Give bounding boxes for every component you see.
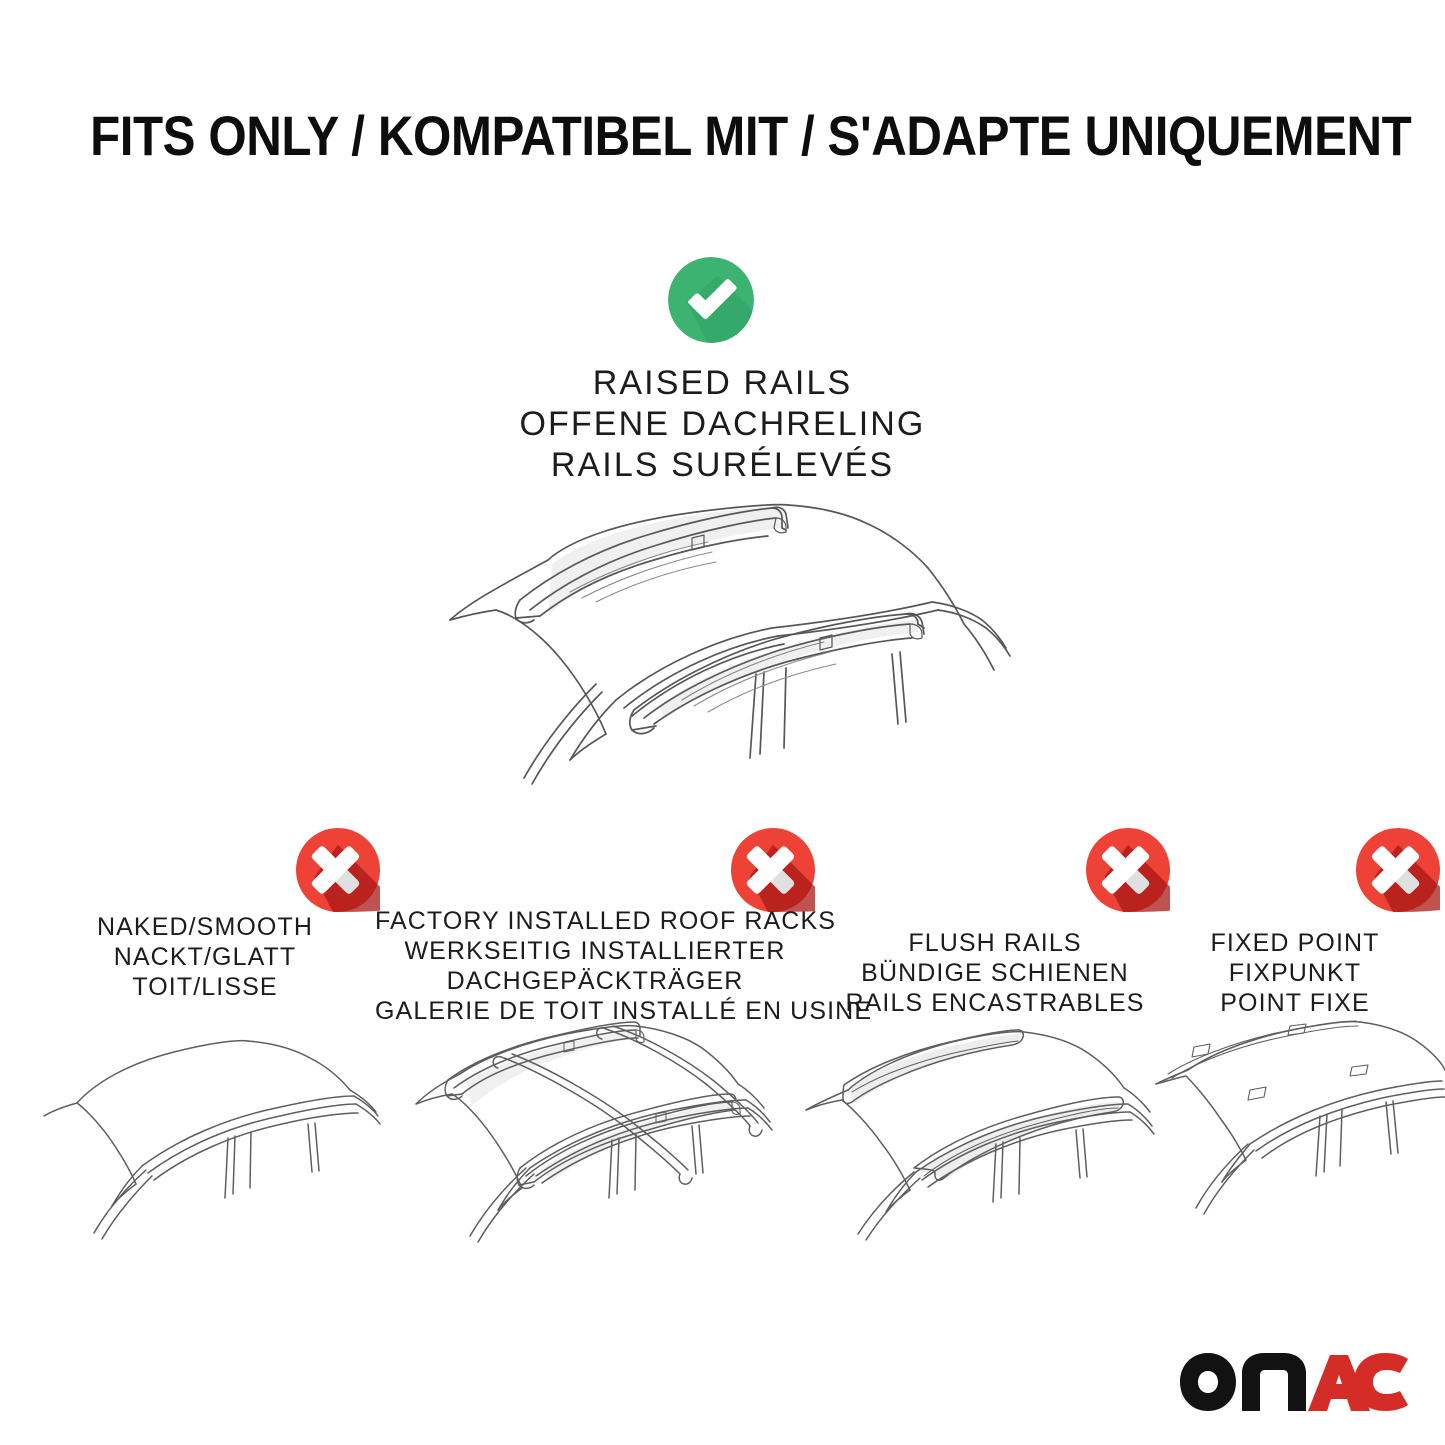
car-roof-factory-installed-roof-racks-illustration xyxy=(400,1008,792,1243)
car-roof-fixed-point-illustration xyxy=(1150,1008,1445,1243)
incompatible-caption: FLUSH RAILS BÜNDIGE SCHIENEN RAILS ENCAS… xyxy=(820,906,1170,1018)
incompatible-item-flush-rails: FLUSH RAILS BÜNDIGE SCHIENEN RAILS ENCAS… xyxy=(820,906,1170,1018)
check-circle-icon xyxy=(668,257,754,343)
compatible-caption-line: RAILS SURÉLEVÉS xyxy=(0,445,1445,486)
caption-line: NAKED/SMOOTH xyxy=(30,912,380,942)
caption-line: TOIT/LISSE xyxy=(30,972,380,1002)
caption-line: FIXED POINT xyxy=(1150,928,1440,958)
caption-line: FIXPUNKT xyxy=(1150,958,1440,988)
page-title-text: FITS ONLY / KOMPATIBEL MIT / S'ADAPTE UN… xyxy=(90,104,1411,168)
caption-line: FLUSH RAILS xyxy=(820,928,1170,958)
caption-line: FACTORY INSTALLED ROOF RACKS xyxy=(375,906,815,936)
compatible-caption-line: RAISED RAILS xyxy=(0,363,1445,404)
incompatible-caption: NAKED/SMOOTH NACKT/GLATT TOIT/LISSE xyxy=(30,906,380,1002)
caption-line: DACHGEPÄCKTRÄGER xyxy=(375,966,815,996)
x-circle-icon xyxy=(163,828,513,912)
compatible-caption-line: OFFENE DACHRELING xyxy=(0,404,1445,445)
compatible-caption: RAISED RAILS OFFENE DACHRELING RAILS SUR… xyxy=(0,363,1445,486)
incompatible-item-naked-smooth: NAKED/SMOOTH NACKT/GLATT TOIT/LISSE xyxy=(30,906,380,1002)
x-circle-icon xyxy=(1253,828,1445,912)
car-roof-naked-smooth-illustration xyxy=(22,1008,397,1243)
incompatible-caption: FIXED POINT FIXPUNKT POINT FIXE xyxy=(1150,906,1440,1018)
car-roof-with-raised-rails-illustration xyxy=(420,488,1040,788)
page-title: FITS ONLY / KOMPATIBEL MIT / S'ADAPTE UN… xyxy=(0,104,1445,168)
omac-logo xyxy=(1178,1351,1410,1413)
compatibility-chart-page: FITS ONLY / KOMPATIBEL MIT / S'ADAPTE UN… xyxy=(0,0,1445,1445)
x-circle-icon xyxy=(953,828,1303,912)
incompatible-item-fixed-point: FIXED POINT FIXPUNKT POINT FIXE xyxy=(1150,906,1440,1018)
x-circle-icon xyxy=(553,828,993,912)
caption-line: BÜNDIGE SCHIENEN xyxy=(820,958,1170,988)
caption-line: NACKT/GLATT xyxy=(30,942,380,972)
car-roof-flush-rails-illustration xyxy=(792,1008,1182,1243)
caption-line: WERKSEITIG INSTALLIERTER xyxy=(375,936,815,966)
